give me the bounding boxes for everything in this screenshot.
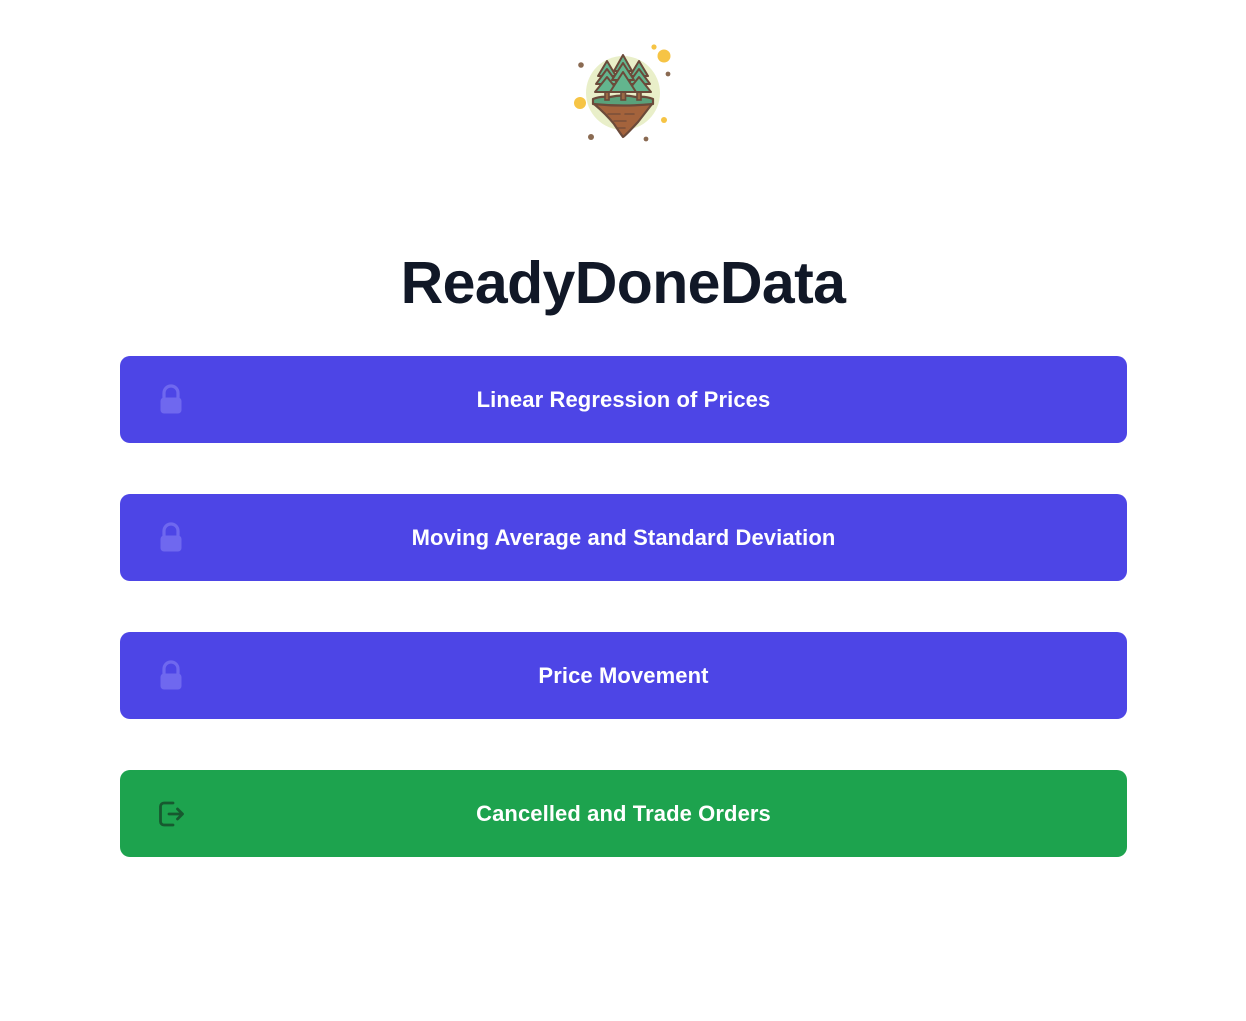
lock-icon [152, 657, 190, 695]
menu-button-price-movement[interactable]: Price Movement [120, 632, 1127, 719]
menu-button-cancelled-and-trade-orders[interactable]: Cancelled and Trade Orders [120, 770, 1127, 857]
menu-button-label: Linear Regression of Prices [477, 389, 771, 411]
menu-button-label: Cancelled and Trade Orders [476, 803, 771, 825]
logo-container [0, 38, 1246, 148]
page-title: ReadyDoneData [0, 246, 1246, 320]
menu-button-label: Moving Average and Standard Deviation [412, 527, 836, 549]
menu-button-list: Linear Regression of Prices Moving Avera… [120, 356, 1127, 857]
lock-icon [152, 381, 190, 419]
sign-out-icon [152, 795, 190, 833]
forest-island-logo [568, 38, 678, 148]
app-root: ReadyDoneData Linear Regression of Price… [0, 0, 1246, 1021]
lock-icon [152, 519, 190, 557]
menu-button-linear-regression-of-prices[interactable]: Linear Regression of Prices [120, 356, 1127, 443]
menu-button-moving-average-and-standard-deviation[interactable]: Moving Average and Standard Deviation [120, 494, 1127, 581]
menu-button-label: Price Movement [538, 665, 708, 687]
